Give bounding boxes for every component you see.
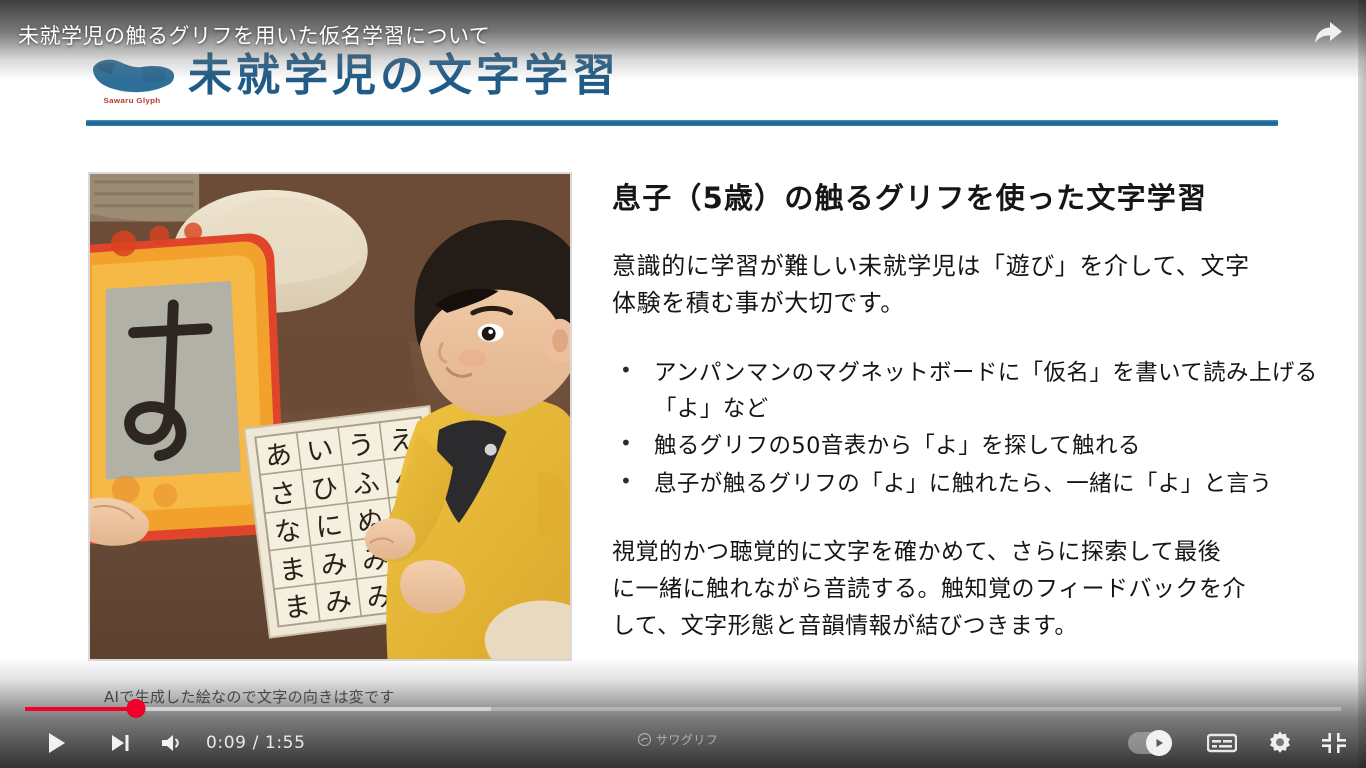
autoplay-track [1128, 732, 1172, 754]
player-controls: 0:09 / 1:55 [0, 718, 1366, 768]
play-icon [43, 730, 69, 756]
list-item: 触るグリフの50音表から「よ」を探して触れる [612, 429, 1352, 465]
settings-gear-icon [1267, 730, 1293, 756]
volume-button[interactable] [148, 718, 196, 768]
svg-text:ま: ま [277, 553, 307, 587]
settings-button[interactable] [1256, 718, 1304, 768]
content-intro: 意識的に学習が難しい未就学児は「遊び」を介して、文字 体験を積む事が大切です。 [612, 248, 1352, 322]
content-heading: 息子（5歳）の触るグリフを使った文字学習 [612, 180, 1352, 218]
content-outro: 視覚的かつ聴覚的に文字を確かめて、さらに探索して最後 に一緒に触れながら音読する… [612, 534, 1352, 644]
svg-text:み: み [323, 586, 353, 620]
video-title[interactable]: 未就学児の触るグリフを用いた仮名学習について [18, 20, 490, 50]
share-button[interactable] [1306, 14, 1350, 52]
exit-fullscreen-button[interactable] [1310, 718, 1358, 768]
subtitles-icon [1207, 732, 1237, 754]
autoplay-knob [1146, 730, 1172, 756]
share-arrow-icon [1313, 20, 1343, 46]
logo-wordmark: Sawaru Glyph [90, 96, 174, 104]
content-outro-line-1: 視覚的かつ聴覚的に文字を確かめて、さらに探索して最後 [612, 534, 1352, 571]
progress-played [25, 707, 136, 711]
content-outro-line-2: に一緒に触れながら音読する。触知覚のフィードバックを介 [612, 571, 1352, 608]
progress-scrubber[interactable] [126, 699, 145, 718]
svg-text:に: に [314, 510, 344, 544]
player-top-bar: 未就学児の触るグリフを用いた仮名学習について [0, 0, 1366, 62]
video-frame: Sawaru Glyph 未就学児の文字学習 [0, 0, 1366, 768]
content-intro-line-2: 体験を積む事が大切です。 [612, 285, 1352, 322]
svg-text:い: い [305, 434, 335, 468]
list-item: 息子が触るグリフの「よ」に触れたら、一緒に「よ」と言う [612, 467, 1352, 503]
svg-text:ひ: ひ [309, 472, 339, 506]
svg-text:ま: ま [282, 591, 312, 625]
content-bullet-list: アンパンマンのマグネットボードに「仮名」を書いて読み上げる「よ」など 触るグリフ… [612, 356, 1352, 502]
play-small-icon [1153, 737, 1165, 749]
title-divider [86, 120, 1278, 126]
content-intro-line-1: 意識的に学習が難しい未就学児は「遊び」を介して、文字 [612, 248, 1352, 285]
list-item: アンパンマンのマグネットボードに「仮名」を書いて読み上げる「よ」など [612, 356, 1352, 427]
next-video-button[interactable] [96, 718, 144, 768]
play-button[interactable] [32, 718, 80, 768]
svg-text:み: み [319, 548, 349, 582]
svg-text:さ: さ [268, 477, 298, 511]
content-outro-line-3: して、文字形態と音韻情報が結びつきます。 [612, 608, 1352, 645]
next-track-icon [108, 731, 132, 755]
volume-icon [159, 731, 185, 755]
subtitles-button[interactable] [1198, 718, 1246, 768]
svg-text:ふ: ふ [351, 467, 381, 501]
progress-bar[interactable] [25, 700, 1341, 718]
svg-text:う: う [346, 429, 376, 463]
time-display: 0:09 / 1:55 [206, 718, 306, 768]
svg-text:な: な [273, 515, 303, 549]
slide-illustration: あい うえ さひ ふへ なに ぬね まみ みも まみ みも [88, 172, 572, 661]
exit-fullscreen-icon [1321, 730, 1347, 756]
video-player[interactable]: Sawaru Glyph 未就学児の文字学習 [0, 0, 1366, 768]
slide-text-column: 息子（5歳）の触るグリフを使った文字学習 意識的に学習が難しい未就学児は「遊び」… [612, 180, 1352, 645]
letterbox-edge [1358, 0, 1366, 768]
svg-text:あ: あ [263, 439, 293, 473]
autoplay-toggle[interactable] [1119, 718, 1181, 768]
